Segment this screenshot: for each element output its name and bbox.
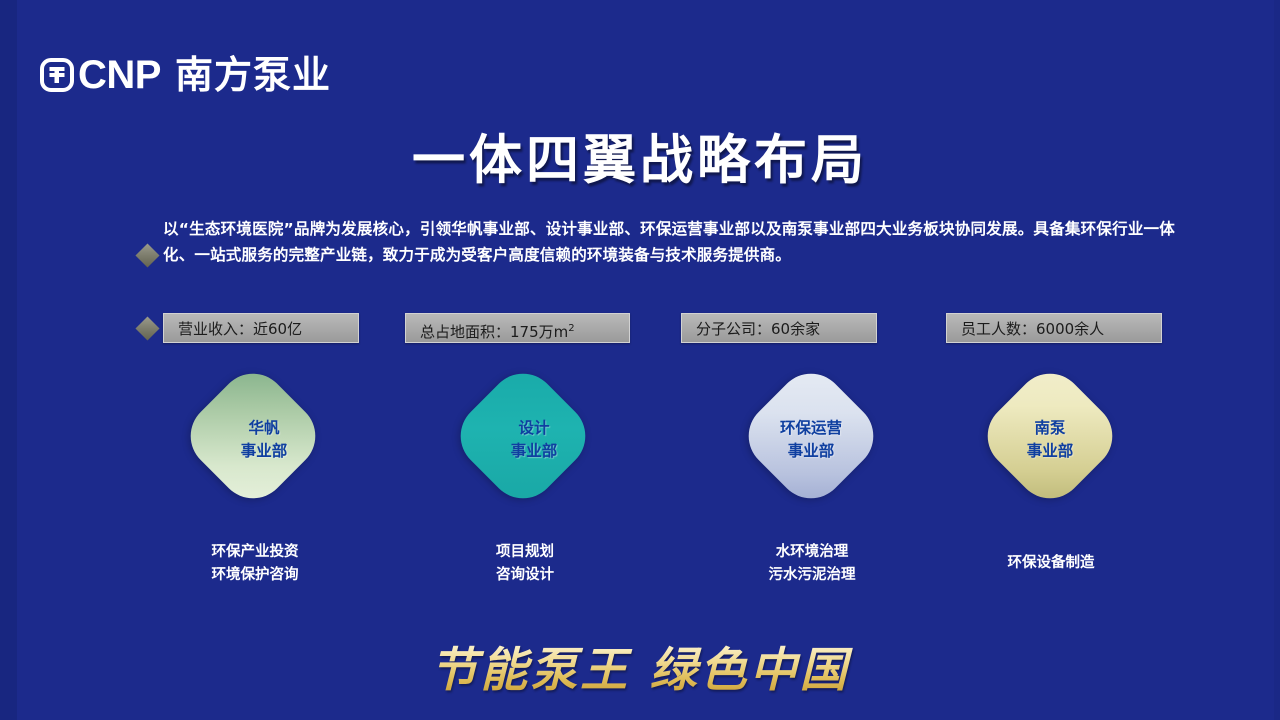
stat-pill: 总占地面积：175万m2: [405, 313, 630, 343]
brand-logo: CNP 南方泵业: [40, 50, 331, 100]
division-label: 华帆 事业部: [174, 417, 354, 463]
division-caption: 环保设备制造: [941, 552, 1161, 575]
right-edge-strip: [1274, 0, 1280, 720]
division-caption-line2: 污水污泥治理: [702, 564, 922, 587]
division-label-line1: 南泵: [960, 417, 1140, 440]
division-caption: 环保产业投资 环境保护咨询: [145, 541, 365, 587]
division-caption: 水环境治理 污水污泥治理: [702, 541, 922, 587]
division-caption-line1: 环保设备制造: [941, 552, 1161, 575]
brand-name-latin: CNP: [78, 55, 161, 95]
division-caption: 项目规划 咨询设计: [415, 541, 635, 587]
left-edge-strip: [0, 0, 17, 720]
stat-pill: 分子公司：60余家: [681, 313, 877, 343]
division-label-line2: 事业部: [721, 440, 901, 463]
division-caption-line2: 环境保护咨询: [145, 564, 365, 587]
stat-pill-label: 总占地面积：175万m2: [420, 323, 575, 341]
brand-name-cn: 南方泵业: [175, 56, 331, 94]
division-label-line1: 设计: [444, 417, 624, 440]
stat-pill: 员工人数：6000余人: [946, 313, 1162, 343]
division-label: 南泵 事业部: [960, 417, 1140, 463]
stat-pill: 营业收入：近60亿: [163, 313, 359, 343]
division-label: 环保运营 事业部: [721, 417, 901, 463]
diamond-bullet-icon: [135, 316, 159, 340]
page-title: 一体四翼战略布局: [0, 131, 1280, 190]
cnp-monogram-icon: [40, 58, 74, 92]
division-label-line2: 事业部: [960, 440, 1140, 463]
division-label: 设计 事业部: [444, 417, 624, 463]
division-label-line2: 事业部: [444, 440, 624, 463]
division-label-line1: 环保运营: [721, 417, 901, 440]
footer-slogan: 节能泵王 绿色中国: [0, 643, 1280, 699]
division-caption-line1: 环保产业投资: [145, 541, 365, 564]
division-label-line1: 华帆: [174, 417, 354, 440]
division-caption-line2: 咨询设计: [415, 564, 635, 587]
division-caption-line1: 水环境治理: [702, 541, 922, 564]
intro-paragraph: 以“生态环境医院”品牌为发展核心，引领华帆事业部、设计事业部、环保运营事业部以及…: [163, 216, 1175, 268]
diamond-bullet-icon: [135, 243, 159, 267]
slide-canvas: CNP 南方泵业 一体四翼战略布局 以“生态环境医院”品牌为发展核心，引领华帆事…: [0, 0, 1280, 720]
division-label-line2: 事业部: [174, 440, 354, 463]
division-caption-line1: 项目规划: [415, 541, 635, 564]
